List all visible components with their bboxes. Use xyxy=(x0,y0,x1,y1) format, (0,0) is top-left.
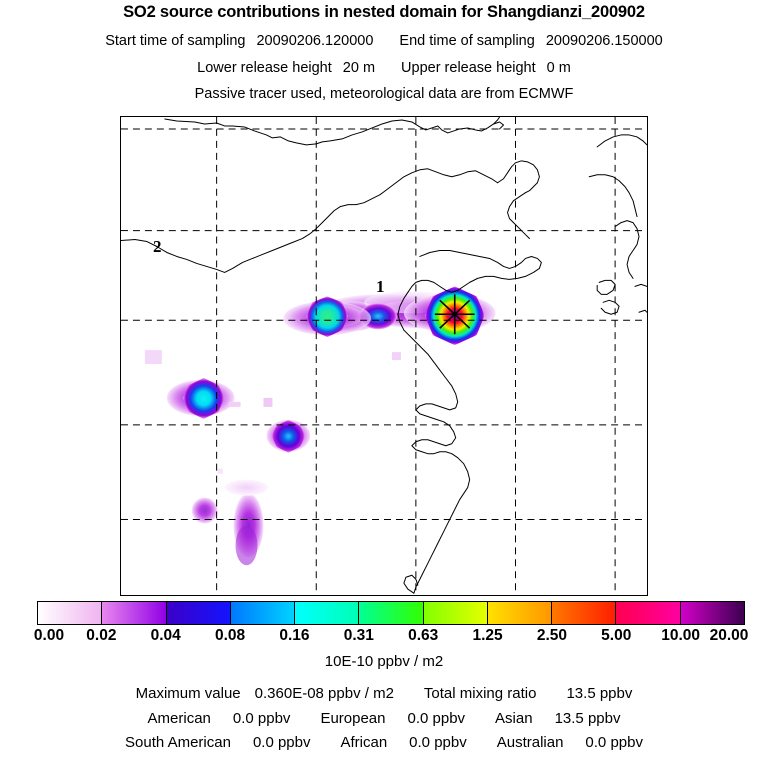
figure-root: SO2 source contributions in nested domai… xyxy=(0,0,768,768)
colorbar-segment-9 xyxy=(616,602,680,624)
region-name-european: European xyxy=(320,710,385,727)
map-plot-area: 1 2 xyxy=(120,116,648,596)
colorbar-segment-2 xyxy=(167,602,231,624)
region-value-australian: 0.0 ppbv xyxy=(585,734,643,751)
end-time-value: 20090206.150000 xyxy=(546,33,663,49)
release-height-line: Lower release height20 mUpper release he… xyxy=(0,60,768,76)
total-mixing-ratio-value: 13.5 ppbv xyxy=(566,685,632,702)
colorbar-tick-1: 0.02 xyxy=(86,627,116,645)
tracer-note: Passive tracer used, meteorological data… xyxy=(0,86,768,102)
colorbar-tick-0: 0.00 xyxy=(34,627,64,645)
colorbar-segment-5 xyxy=(359,602,423,624)
region-name-asian: Asian xyxy=(495,710,533,727)
colorbar-tick-labels: 0.000.020.040.080.160.310.631.252.505.00… xyxy=(0,627,768,647)
colorbar-segment-3 xyxy=(231,602,295,624)
total-mixing-ratio-label: Total mixing ratio xyxy=(424,685,537,702)
colorbar-segment-6 xyxy=(424,602,488,624)
page-title: SO2 source contributions in nested domai… xyxy=(0,3,768,22)
colorbar-segment-0 xyxy=(38,602,102,624)
sampling-time-line: Start time of sampling20090206.120000End… xyxy=(0,33,768,49)
colorbar xyxy=(37,601,745,625)
colorbar-segment-7 xyxy=(488,602,552,624)
colorbar-segment-1 xyxy=(102,602,166,624)
region-value-american: 0.0 ppbv xyxy=(233,710,291,727)
region-value-asian: 13.5 ppbv xyxy=(555,710,621,727)
max-value-label: Maximum value xyxy=(136,685,241,702)
stats-row-regions-1: American0.0 ppbvEuropean0.0 ppbvAsian13.… xyxy=(0,710,768,727)
region-value-european: 0.0 ppbv xyxy=(408,710,466,727)
stats-row-summary: Maximum value0.360E-08 ppbv / m2Total mi… xyxy=(0,685,768,702)
start-time-label: Start time of sampling xyxy=(105,33,245,49)
colorbar-tick-3: 0.08 xyxy=(215,627,245,645)
lower-release-value: 20 m xyxy=(343,60,375,76)
map-region-label-1: 1 xyxy=(376,277,385,297)
upper-release-value: 0 m xyxy=(547,60,571,76)
region-name-african: African xyxy=(340,734,387,751)
start-time-value: 20090206.120000 xyxy=(256,33,373,49)
colorbar-segment-10 xyxy=(681,602,744,624)
region-name-australian: Australian xyxy=(497,734,564,751)
colorbar-segment-4 xyxy=(295,602,359,624)
colorbar-tick-10: 10.00 xyxy=(661,627,700,645)
end-time-label: End time of sampling xyxy=(399,33,534,49)
coastline-overlay xyxy=(121,117,647,595)
colorbar-tick-11: 20.00 xyxy=(710,627,749,645)
colorbar-segments xyxy=(37,601,745,625)
colorbar-tick-9: 5.00 xyxy=(601,627,631,645)
region-value-african: 0.0 ppbv xyxy=(409,734,467,751)
region-name-american: American xyxy=(148,710,211,727)
colorbar-tick-2: 0.04 xyxy=(151,627,181,645)
stats-row-regions-2: South American0.0 ppbvAfrican0.0 ppbvAus… xyxy=(0,734,768,751)
colorbar-segment-8 xyxy=(552,602,616,624)
colorbar-tick-6: 0.63 xyxy=(408,627,438,645)
upper-release-label: Upper release height xyxy=(401,60,536,76)
colorbar-unit-label: 10E-10 ppbv / m2 xyxy=(0,653,768,670)
colorbar-tick-4: 0.16 xyxy=(279,627,309,645)
region-name-south-american: South American xyxy=(125,734,231,751)
lower-release-label: Lower release height xyxy=(197,60,332,76)
receptor-marker xyxy=(435,294,475,334)
colorbar-tick-8: 2.50 xyxy=(537,627,567,645)
max-value: 0.360E-08 ppbv / m2 xyxy=(255,685,394,702)
region-value-south-american: 0.0 ppbv xyxy=(253,734,311,751)
colorbar-tick-7: 1.25 xyxy=(472,627,502,645)
map-region-label-2: 2 xyxy=(153,237,162,257)
colorbar-tick-5: 0.31 xyxy=(344,627,374,645)
